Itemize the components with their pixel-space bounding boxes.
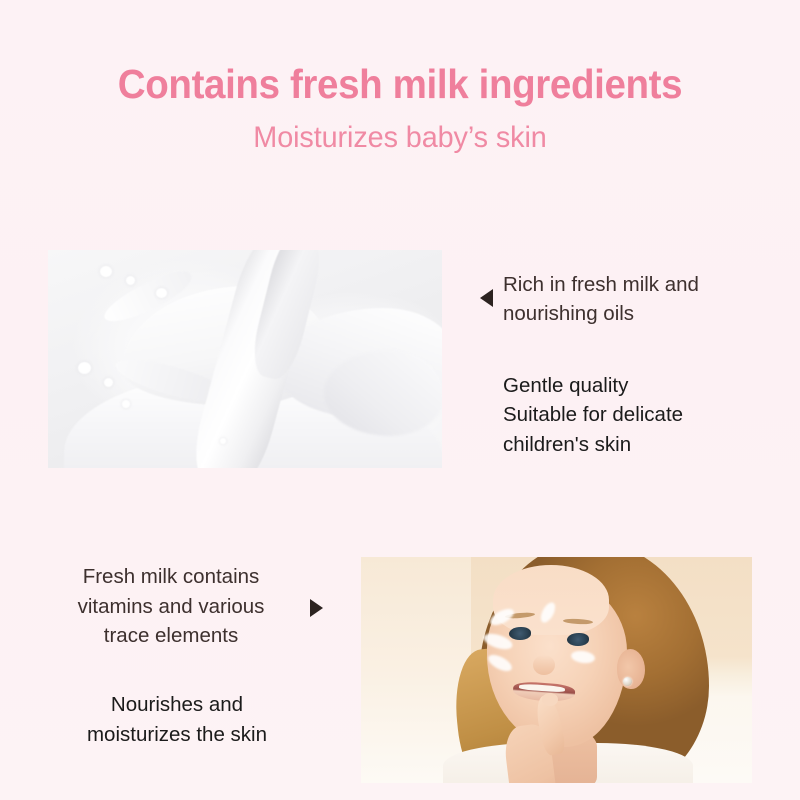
milk-droplet [100, 266, 112, 277]
child-earring-shape [623, 677, 632, 686]
milk-droplet [122, 400, 130, 408]
page-subtitle: Moisturizes baby’s skin [16, 121, 784, 156]
feature-line: Nourishes and [42, 690, 312, 720]
arrow-right-icon [310, 599, 323, 617]
milk-splash-photo [48, 250, 442, 468]
feature-line: Gentle quality [503, 371, 788, 400]
child-nose-shape [533, 655, 555, 675]
promo-banner: Contains fresh milk ingredients Moisturi… [0, 0, 800, 800]
page-title: Contains fresh milk ingredients [24, 62, 776, 108]
milk-droplet [156, 288, 167, 298]
heading-block: Contains fresh milk ingredients Moisturi… [0, 62, 800, 155]
milk-droplet [104, 378, 113, 387]
child-eye-right-shape [567, 633, 589, 646]
feature-line: Fresh milk contains [42, 562, 300, 592]
feature-text-gentle-quality: Gentle quality Suitable for delicate chi… [503, 371, 788, 459]
feature-line: vitamins and various [42, 592, 300, 622]
milk-droplet [78, 362, 91, 374]
child-photo-background-left [361, 557, 471, 783]
child-skincare-photo [361, 557, 752, 783]
feature-line: Suitable for delicate [503, 400, 788, 429]
arrow-left-icon [480, 289, 493, 307]
milk-droplet [220, 438, 226, 444]
feature-line: Rich in fresh milk and [503, 270, 783, 299]
feature-text-nourishes-moisturizes: Nourishes and moisturizes the skin [42, 690, 312, 749]
feature-text-rich-in-fresh-milk: Rich in fresh milk and nourishing oils [503, 270, 783, 328]
feature-line: trace elements [42, 621, 300, 651]
child-fingertip-shape [542, 693, 558, 706]
milk-droplet [126, 276, 135, 285]
child-eye-left-shape [509, 627, 531, 640]
child-forehead-shape [493, 565, 609, 635]
feature-line: children's skin [503, 430, 788, 459]
feature-text-vitamins-trace-elements: Fresh milk contains vitamins and various… [42, 562, 300, 651]
feature-line: moisturizes the skin [42, 720, 312, 750]
feature-line: nourishing oils [503, 299, 783, 328]
